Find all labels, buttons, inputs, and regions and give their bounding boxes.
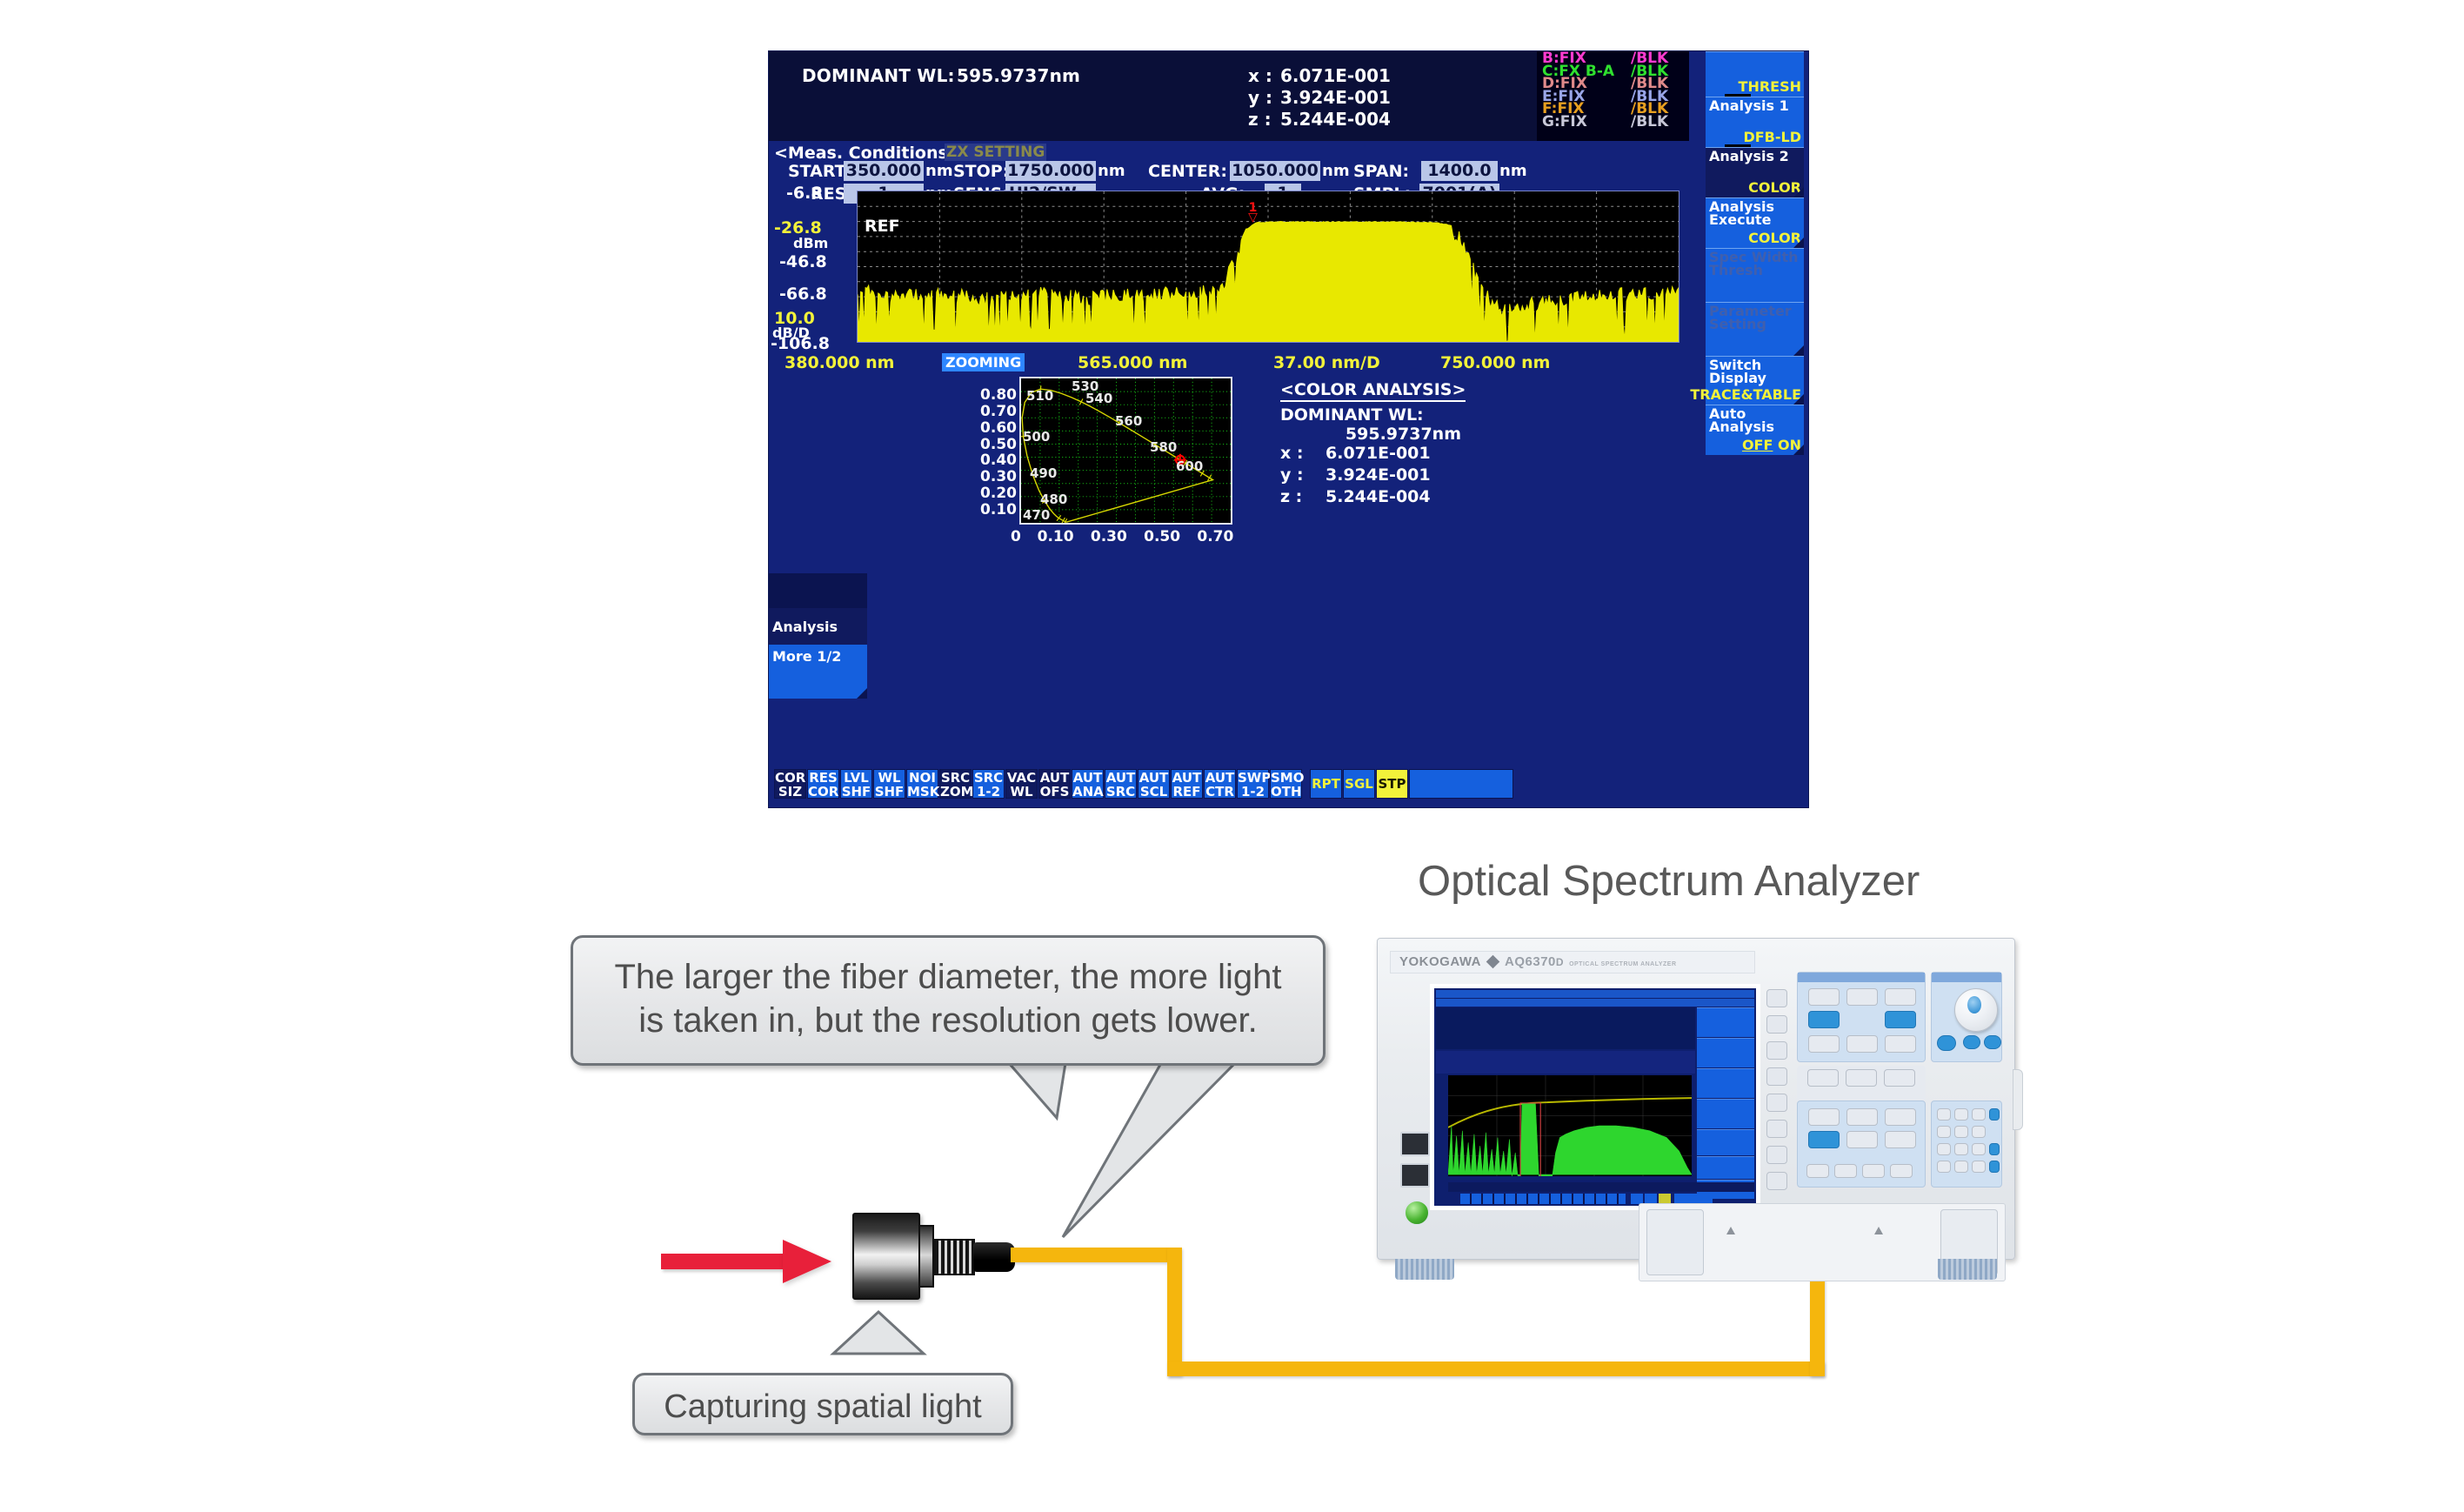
status-key-cor-siz[interactable]: CORSIZ <box>774 769 806 799</box>
softkey-corner-icon <box>1793 238 1804 248</box>
status-key-smo-oth[interactable]: SMOOTH <box>1270 769 1302 799</box>
meas-field-value[interactable]: 1400.0 <box>1421 161 1498 181</box>
status-key-aut-ofs[interactable]: AUTOFS <box>1038 769 1071 799</box>
soft-btn-2[interactable] <box>1766 1015 1787 1034</box>
softkey-title: AnalysisExecute <box>1709 200 1774 226</box>
cie-wavelength-label: 490 <box>1030 465 1057 481</box>
x-center: 565.000 nm <box>1078 353 1187 372</box>
softkey-more-label: More 1/2 <box>772 648 841 665</box>
key-advance[interactable] <box>1884 1069 1915 1087</box>
meas-field-value[interactable]: 1050.000 <box>1230 161 1320 181</box>
key-misc-2[interactable] <box>1834 1164 1857 1178</box>
key-file[interactable] <box>1885 1108 1916 1126</box>
brand-diamond-icon <box>1486 955 1500 969</box>
key-marker[interactable] <box>1807 1069 1839 1087</box>
cie-y-tick: 0.20 <box>980 485 1017 502</box>
key-peak-search[interactable] <box>1846 1069 1877 1087</box>
softkey-corner-icon <box>1793 187 1804 197</box>
instrument-foot-right <box>1938 1259 1997 1280</box>
key-misc-4[interactable] <box>1890 1164 1913 1178</box>
trace-legend-name: G:FIX <box>1542 116 1587 129</box>
softkey-value: TRACE&TABLE <box>1690 386 1801 403</box>
measure-panel-title <box>1798 973 1925 982</box>
softkey-value: THRESH <box>1739 78 1801 95</box>
numeric-keypad <box>1931 1101 2002 1188</box>
power-button[interactable] <box>1404 1200 1430 1226</box>
zoom-setting-tag: ZX SETTING <box>945 144 1046 161</box>
lcd-softkey-column <box>1697 1007 1754 1176</box>
cie-chromaticity-chart: 530540510560500580490600480470 0.800.700… <box>980 377 1263 542</box>
key-trace[interactable] <box>1885 1035 1916 1053</box>
header-x-label: x : <box>1248 65 1272 86</box>
cie-wavelength-label: 510 <box>1026 388 1053 404</box>
cie-y-tick: 0.80 <box>980 386 1017 404</box>
key-display[interactable] <box>1846 1035 1878 1053</box>
lcd-conditions-block <box>1436 1051 1695 1074</box>
soft-btn-7[interactable] <box>1766 1146 1787 1164</box>
cie-plot-area: 530540510560500580490600480470 <box>1019 377 1232 525</box>
color-analysis-row: z :5.244E-004 <box>1280 487 1506 509</box>
cie-x-tick: 0.70 <box>1197 528 1233 545</box>
optical-input-port[interactable] <box>1646 1209 1704 1275</box>
num-key-dot[interactable] <box>1954 1161 1968 1173</box>
collimator-barrel <box>852 1213 920 1300</box>
cie-y-tick: 0.10 <box>980 501 1017 518</box>
ca-dominant-wl-value: 595.9737nm <box>1280 425 1506 444</box>
instrument-side-handle <box>2013 1069 2023 1130</box>
lcd-plot-area <box>1448 1075 1692 1176</box>
softkey-1[interactable]: THRESH <box>1706 51 1804 97</box>
instrument-foot-left <box>1395 1259 1454 1280</box>
brand-model-suffix: D <box>1556 956 1564 968</box>
key-sweep[interactable] <box>1808 1011 1840 1028</box>
trace-legend: B:FIX/BLKC:FX B-A/BLKD:FIX/BLKE:FIX/BLKF… <box>1537 51 1689 141</box>
color-analysis-key: x : <box>1280 444 1303 463</box>
cie-wavelength-label: 480 <box>1040 492 1067 507</box>
softkey-4[interactable]: AnalysisExecuteCOLOR <box>1706 197 1804 248</box>
cie-wavelength-label: 470 <box>1023 507 1050 523</box>
softkey-corner-icon <box>1793 345 1804 356</box>
usb-port-upper[interactable] <box>1400 1132 1430 1156</box>
num-key-6[interactable] <box>1972 1126 1986 1138</box>
status-key-swp-1-2[interactable]: SWP1-2 <box>1237 769 1269 799</box>
softkey-8[interactable]: AutoAnalysisOFF ON <box>1706 405 1804 455</box>
instrument-softkey-buttons[interactable] <box>1766 987 1789 1205</box>
header-z-value: 5.244E-004 <box>1280 109 1391 130</box>
meas-conditions-title: <Meas. Conditions> <box>774 144 962 163</box>
num-key-minus[interactable] <box>1972 1161 1986 1173</box>
instrument-case: YOKOGAWAAQ6370DOPTICAL SPECTRUM ANALYZER <box>1377 938 2015 1260</box>
lcd-titlebar <box>1436 990 1754 998</box>
osa-screen-capture: DOMINANT WL: 595.9737nm x : 6.071E-001 y… <box>768 50 1809 808</box>
trace-legend-row: G:FIX/BLK <box>1537 116 1689 129</box>
softkey-title: AutoAnalysis <box>1709 407 1774 433</box>
lcd-axis-row <box>1448 1182 1754 1192</box>
color-analysis-title: <COLOR ANALYSIS> <box>1280 380 1466 402</box>
instrument-lcd-screen <box>1430 984 1760 1210</box>
cie-wavelength-label: 580 <box>1150 439 1177 455</box>
key-enter[interactable] <box>1937 1035 1956 1051</box>
lcd-readout-block <box>1436 1007 1695 1049</box>
status-key-noi-msk[interactable]: NOIMSK <box>906 769 938 799</box>
key-level[interactable] <box>1885 988 1916 1006</box>
zooming-tag: ZOOMING <box>942 353 1025 371</box>
num-key-2[interactable] <box>1954 1143 1968 1155</box>
usb-port-lower[interactable] <box>1400 1163 1430 1188</box>
key-misc-3[interactable] <box>1862 1164 1885 1178</box>
incoming-light-arrow-icon <box>661 1240 848 1283</box>
status-key-aut-ctr[interactable]: AUTCTR <box>1204 769 1236 799</box>
brand-model: AQ6370 <box>1505 954 1556 969</box>
callout-main-line2: is taken in, but the resolution gets low… <box>573 999 1323 1042</box>
y-tick-2: -46.8 <box>779 252 827 271</box>
status-key-src-1-2[interactable]: SRC1-2 <box>972 769 1005 799</box>
cie-wavelength-label: 600 <box>1176 458 1203 474</box>
dominant-wl-value: 595.9737nm <box>957 65 1080 86</box>
color-analysis-row: x :6.071E-001 <box>1280 444 1506 465</box>
status-keybar[interactable]: CORSIZRESCORLVLSHFWLSHFNOIMSKSRCZOMSRC1-… <box>774 769 1800 800</box>
softkey-6[interactable]: ParameterSetting <box>1706 302 1804 356</box>
key-user[interactable] <box>1808 1108 1840 1126</box>
setting-panel <box>1931 972 2002 1062</box>
status-key-aut-scl[interactable]: AUTSCL <box>1138 769 1170 799</box>
header-y-label: y : <box>1248 87 1272 108</box>
num-key-0[interactable] <box>1937 1161 1951 1173</box>
y-tick-3: -66.8 <box>779 284 827 304</box>
osa-instrument-photo: YOKOGAWAAQ6370DOPTICAL SPECTRUM ANALYZER <box>1377 938 2015 1270</box>
softkey-analysis-label: Analysis <box>772 619 838 635</box>
key-zoom[interactable] <box>1885 1011 1916 1028</box>
lcd-content <box>1434 988 1756 1206</box>
cie-y-tick: 0.30 <box>980 468 1017 485</box>
meas-field-label: STOP: <box>953 162 1009 181</box>
color-analysis-key: y : <box>1280 465 1304 485</box>
page-root: DOMINANT WL: 595.9737nm x : 6.071E-001 y… <box>0 0 2464 1512</box>
num-key-7[interactable] <box>1937 1108 1951 1121</box>
color-analysis-value: 5.244E-004 <box>1325 487 1431 506</box>
color-analysis-value: 6.071E-001 <box>1325 444 1431 463</box>
fiber-segment-1 <box>1011 1248 1167 1262</box>
status-key-aut-src[interactable]: AUTSRC <box>1105 769 1137 799</box>
num-key-5[interactable] <box>1954 1126 1968 1138</box>
status-key-vac-wl[interactable]: VACWL <box>1005 769 1038 799</box>
softkey-column[interactable]: THRESHAnalysis 1DFB-LDAnalysis 2COLORAna… <box>1706 51 1808 573</box>
fiber-segment-2 <box>1167 1248 1182 1376</box>
meas-conditions-panel: <Meas. Conditions> ZX SETTING START:350.… <box>769 141 1689 191</box>
num-key-unit-2[interactable] <box>1989 1143 2000 1155</box>
y-tick-0: -6.8 <box>786 184 823 203</box>
key-app[interactable] <box>1846 1131 1878 1148</box>
spectrum-x-axis: 380.000 nm ZOOMING 565.000 nm 37.00 nm/D… <box>769 351 1689 375</box>
instrument-brand-label: YOKOGAWAAQ6370DOPTICAL SPECTRUM ANALYZER <box>1390 951 1755 973</box>
cie-wavelength-label: 500 <box>1023 429 1050 445</box>
color-analysis-row: y :3.924E-001 <box>1280 465 1506 487</box>
color-analysis-rows: x :6.071E-001y :3.924E-001z :5.244E-004 <box>1280 444 1506 509</box>
lcd-plot-svg <box>1448 1075 1692 1176</box>
status-key-wl-shf[interactable]: WLSHF <box>873 769 905 799</box>
status-key-src-zom[interactable]: SRCZOM <box>939 769 972 799</box>
warning-triangle-icon-1 <box>1726 1227 1735 1234</box>
key-center[interactable] <box>1808 988 1840 1006</box>
status-key-res-cor[interactable]: RESCOR <box>807 769 839 799</box>
lcd-titlebar-2 <box>1436 999 1754 1007</box>
run-key-rpt[interactable]: RPT <box>1310 769 1342 799</box>
collimator-flange <box>918 1225 934 1288</box>
x-div: 37.00 nm/D <box>1273 353 1380 372</box>
softkey-3[interactable]: Analysis 2COLOR <box>1706 147 1804 197</box>
spectrum-plot-area: 1▽ <box>857 191 1679 343</box>
softkey-5[interactable]: Spec WidthThresh <box>1706 248 1804 302</box>
meas-field-label: START: <box>788 162 851 181</box>
arrow-head <box>783 1240 831 1283</box>
key-up-arrow[interactable] <box>1984 1035 2001 1049</box>
soft-btn-6[interactable] <box>1766 1120 1787 1138</box>
trace-legend-blk: /BLK <box>1631 116 1668 129</box>
softkey-analysis[interactable]: Analysis <box>769 608 867 645</box>
status-key-lvl-shf[interactable]: LVLSHF <box>840 769 872 799</box>
spectrum-marker-1: 1▽ <box>1248 204 1258 223</box>
x-stop: 750.000 nm <box>1440 353 1550 372</box>
soft-btn-8[interactable] <box>1766 1172 1787 1190</box>
run-key-stp[interactable]: STP <box>1376 769 1408 799</box>
meas-field-label: CENTER: <box>1148 162 1227 181</box>
key-span[interactable] <box>1846 988 1878 1006</box>
softkey-corner-icon <box>1793 445 1804 455</box>
arrow-shaft <box>661 1254 791 1269</box>
meas-field-unit: nm <box>1322 162 1350 180</box>
key-analysis[interactable] <box>1808 1131 1840 1148</box>
brand-subtitle: OPTICAL SPECTRUM ANALYZER <box>1569 961 1676 967</box>
cie-x-tick: 0.10 <box>1038 528 1074 545</box>
measure-key-panel <box>1797 972 1926 1062</box>
collimator-thread <box>933 1239 975 1275</box>
num-key-unit-1[interactable] <box>1989 1108 2000 1121</box>
header-z-label: z : <box>1248 109 1272 130</box>
cie-y-tick: 0.40 <box>980 452 1017 469</box>
callout-main: The larger the fiber diameter, the more … <box>571 935 1325 1066</box>
warning-triangle-icon-2 <box>1874 1227 1883 1234</box>
cie-x-tick: 0 <box>1011 528 1021 545</box>
num-key-3[interactable] <box>1972 1143 1986 1155</box>
key-system[interactable] <box>1885 1131 1916 1148</box>
softkey-value: DFB-LD <box>1743 129 1801 145</box>
ref-label: REF <box>865 217 900 236</box>
fiber-segment-3 <box>1167 1361 1825 1376</box>
num-key-9[interactable] <box>1972 1108 1986 1121</box>
meas-field-label: SPAN: <box>1353 162 1409 181</box>
soft-btn-5[interactable] <box>1766 1094 1787 1112</box>
dominant-wl-label: DOMINANT WL: <box>802 65 955 86</box>
softkey-7[interactable]: SwitchDisplayTRACE&TABLE <box>1706 356 1804 405</box>
num-key-1[interactable] <box>1937 1143 1951 1155</box>
cie-x-tick: 0.50 <box>1144 528 1180 545</box>
key-down-arrow[interactable] <box>1963 1035 1980 1049</box>
cie-x-tick: 0.30 <box>1091 528 1127 545</box>
meas-field-value[interactable]: 350.000 <box>844 161 924 181</box>
meas-field-unit: nm <box>1098 162 1125 180</box>
softkey-title: ParameterSetting <box>1709 304 1792 331</box>
osa-header-panel: DOMINANT WL: 595.9737nm x : 6.071E-001 y… <box>769 51 1689 141</box>
header-x-value: 6.071E-001 <box>1280 65 1391 86</box>
header-y-value: 3.924E-001 <box>1280 87 1391 108</box>
ca-dominant-wl-label: DOMINANT WL: <box>1280 405 1506 425</box>
key-setup[interactable] <box>1808 1035 1840 1053</box>
cie-y-tick: 0.60 <box>980 419 1017 437</box>
softkey-title: Analysis 1 <box>1709 99 1789 112</box>
meas-field-value[interactable]: 1750.000 <box>1005 161 1096 181</box>
cie-wavelength-label: 540 <box>1085 391 1112 406</box>
softkey-more[interactable]: More 1/2 <box>769 645 867 699</box>
num-key-4[interactable] <box>1937 1126 1951 1138</box>
color-analysis-key: z : <box>1280 487 1302 506</box>
status-key-aut-ref[interactable]: AUTREF <box>1171 769 1203 799</box>
knob-indicator <box>1967 996 1981 1014</box>
brand-name: YOKOGAWA <box>1399 954 1481 969</box>
cie-wavelength-label: 560 <box>1115 413 1142 429</box>
setting-panel-title <box>1932 973 2001 982</box>
softkey-title: SwitchDisplay <box>1709 358 1766 385</box>
color-analysis-value: 3.924E-001 <box>1325 465 1431 485</box>
cie-y-tick: 0.50 <box>980 436 1017 453</box>
key-memory[interactable] <box>1846 1108 1878 1126</box>
run-key-sgl[interactable]: SGL <box>1343 769 1375 799</box>
status-key-aut-ana[interactable]: AUTANA <box>1072 769 1104 799</box>
softkey-value: OFF ON <box>1742 437 1801 453</box>
softkey-more-corner-icon <box>857 688 867 699</box>
num-key-8[interactable] <box>1954 1108 1968 1121</box>
status-key-blank <box>1409 769 1513 799</box>
soft-btn-3[interactable] <box>1766 1041 1787 1060</box>
meas-field-unit: nm <box>1499 162 1527 180</box>
soft-btn-4[interactable] <box>1766 1067 1787 1086</box>
key-misc-1[interactable] <box>1806 1164 1829 1178</box>
collimator-assembly <box>852 1209 1018 1305</box>
cie-y-tick: 0.70 <box>980 403 1017 420</box>
x-start: 380.000 nm <box>785 353 894 372</box>
rotary-knob[interactable] <box>1954 988 1998 1032</box>
spectrum-graph: 1▽ -6.8 -26.8 dBm -46.8 -66.8 10.0 dB/D … <box>769 191 1689 351</box>
softkey-corner-icon <box>1793 394 1804 405</box>
spectrum-svg <box>858 191 1679 342</box>
y-unit: dBm <box>793 235 828 251</box>
softkey-2[interactable]: Analysis 1DFB-LD <box>1706 97 1804 147</box>
num-key-unit-3[interactable] <box>1989 1161 2000 1173</box>
soft-btn-1[interactable] <box>1766 989 1787 1007</box>
softkey-title: Spec WidthThresh <box>1709 251 1799 277</box>
softkey-title: Analysis 2 <box>1709 150 1789 163</box>
color-analysis-panel: <COLOR ANALYSIS> DOMINANT WL: 595.9737nm… <box>1280 380 1506 509</box>
meas-field-unit: nm <box>925 162 953 180</box>
callout-sub: Capturing spatial light <box>632 1373 1013 1435</box>
callout-main-line1: The larger the fiber diameter, the more … <box>573 955 1323 999</box>
system-key-panel <box>1797 1101 1926 1188</box>
fiber-connector-boot <box>973 1242 1015 1272</box>
